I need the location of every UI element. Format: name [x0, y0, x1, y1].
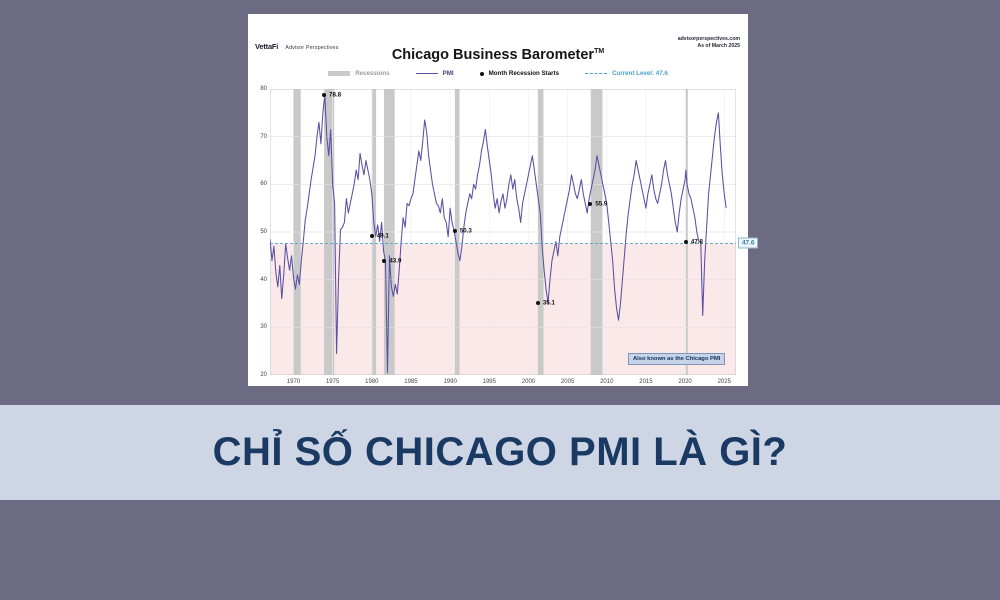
current-level-dash-icon — [585, 73, 607, 74]
screenshot-root: VettaFi Advisor Perspectives advisorpers… — [0, 0, 1000, 600]
recession-start-marker — [382, 259, 386, 263]
y-axis-tick: 30 — [251, 324, 267, 330]
x-axis-tick: 1980 — [365, 379, 378, 385]
x-axis-tick: 2025 — [718, 379, 731, 385]
data-point-label: 50.3 — [460, 227, 472, 234]
y-axis-tick: 20 — [251, 372, 267, 378]
data-point-label: 49.1 — [377, 233, 389, 240]
legend-label-recession-starts: Month Recession Starts — [489, 70, 559, 77]
x-axis-tick: 2000 — [522, 379, 535, 385]
legend-label-recessions: Recessions — [355, 70, 389, 77]
y-axis-tick: 40 — [251, 277, 267, 283]
recession-start-marker — [536, 301, 540, 305]
x-axis-tick: 1970 — [287, 379, 300, 385]
legend-label-pmi: PMI — [443, 70, 454, 77]
x-axis-tick: 1995 — [483, 379, 496, 385]
y-axis-tick: 60 — [251, 181, 267, 187]
trademark-mark: TM — [594, 48, 604, 55]
legend-item-current-level: Current Level: 47.6 — [585, 70, 668, 77]
recession-start-marker — [322, 93, 326, 97]
pmi-line-swatch-icon — [416, 73, 438, 74]
x-axis-tick: 2005 — [561, 379, 574, 385]
chart-note-box: Also known as the Chicago PMI — [628, 353, 725, 365]
data-point-label: 35.1 — [543, 300, 555, 307]
legend-label-current-level: Current Level: 47.6 — [612, 70, 668, 77]
legend-item-pmi: PMI — [416, 70, 454, 77]
x-axis-tick: 1985 — [404, 379, 417, 385]
chart-canvas — [270, 89, 736, 375]
caption-headline: CHỈ SỐ CHICAGO PMI LÀ GÌ? — [213, 430, 788, 475]
current-level-value-box: 47.6 — [738, 238, 758, 249]
recession-swatch-icon — [328, 71, 350, 76]
chart-title-text: Chicago Business Barometer — [392, 47, 594, 63]
y-axis-tick: 80 — [251, 86, 267, 92]
data-point-label: 47.8 — [691, 239, 703, 246]
data-point-label: 55.9 — [595, 200, 607, 207]
x-axis-tick: 1990 — [443, 379, 456, 385]
recession-start-marker — [370, 234, 374, 238]
y-axis-tick: 50 — [251, 229, 267, 235]
x-axis-tick: 2020 — [678, 379, 691, 385]
x-axis-tick: 1975 — [326, 379, 339, 385]
source-website: advisorperspectives.com — [678, 36, 740, 43]
plot-area: 2030405060708019701975198019851990199520… — [270, 89, 736, 375]
chart-card: VettaFi Advisor Perspectives advisorpers… — [248, 14, 748, 386]
recession-start-marker — [684, 240, 688, 244]
recession-start-marker — [588, 202, 592, 206]
caption-band: CHỈ SỐ CHICAGO PMI LÀ GÌ? — [0, 405, 1000, 500]
chart-legend: Recessions PMI Month Recession Starts Cu… — [248, 70, 748, 77]
recession-start-marker — [453, 229, 457, 233]
y-axis-tick: 70 — [251, 134, 267, 140]
x-axis-tick: 2015 — [639, 379, 652, 385]
legend-item-recessions: Recessions — [328, 70, 389, 77]
x-axis-tick: 2010 — [600, 379, 613, 385]
chart-title: Chicago Business BarometerTM — [248, 47, 748, 63]
legend-item-recession-starts: Month Recession Starts — [480, 70, 559, 77]
marker-dot-icon — [480, 72, 484, 76]
data-point-label: 78.8 — [329, 91, 341, 98]
data-point-label: 43.9 — [389, 258, 401, 265]
